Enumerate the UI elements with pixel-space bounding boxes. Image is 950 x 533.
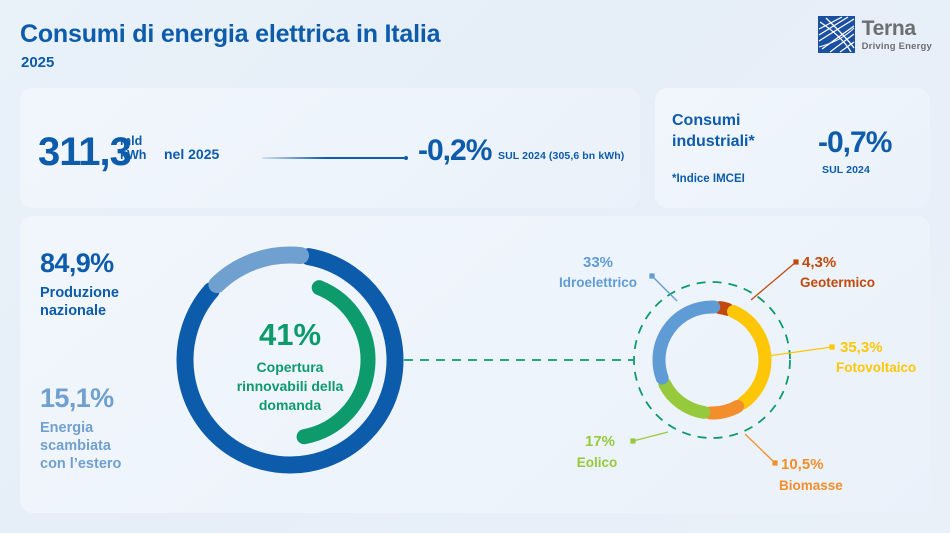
mix-arc-geotermico xyxy=(720,308,728,310)
leader-idroelettrico xyxy=(652,276,677,301)
mix-arc-idroelettrico xyxy=(659,307,714,378)
mix-arc-fotovoltaico xyxy=(734,312,765,403)
leader-fotovoltaico xyxy=(768,347,832,356)
mix-rinnovabili-donut xyxy=(630,259,834,465)
leader-eolico-marker xyxy=(630,438,635,443)
outer-arc-energia-scambiata xyxy=(217,255,301,285)
produzione-nazionale-donut: 41% Copertura rinnovabili della domanda xyxy=(185,255,395,465)
label-geotermico-pct: 4,3% xyxy=(802,254,836,271)
mix-arc-eolico xyxy=(665,384,704,412)
label-geotermico-name: Geotermico xyxy=(800,275,875,290)
label-biomasse-name: Biomasse xyxy=(779,478,843,493)
donut-center-line2: rinnovabili della xyxy=(237,378,344,394)
charts-layer: 41% Copertura rinnovabili della domanda … xyxy=(0,0,950,533)
infographic-canvas: Consumi di energia elettrica in Italia 2… xyxy=(0,0,950,533)
label-eolico-pct: 17% xyxy=(585,433,615,450)
label-eolico-name: Eolico xyxy=(577,455,618,470)
leader-eolico xyxy=(633,432,668,441)
donut-center-line3: domanda xyxy=(259,397,321,413)
mix-arc-biomasse xyxy=(710,406,737,413)
leader-geotermico-marker xyxy=(793,259,798,264)
leader-geotermico xyxy=(751,262,796,300)
label-fotovoltaico-pct: 35,3% xyxy=(840,339,883,356)
leader-biomasse-marker xyxy=(772,460,777,465)
donut-center-line1: Copertura xyxy=(257,359,324,375)
label-biomasse-pct: 10,5% xyxy=(781,456,824,473)
leader-fotovoltaico-marker xyxy=(829,344,834,349)
leader-biomasse xyxy=(745,434,775,463)
label-idroelettrico-name: Idroelettrico xyxy=(559,275,637,290)
label-idroelettrico-pct: 33% xyxy=(583,254,613,271)
label-fotovoltaico-name: Fotovoltaico xyxy=(836,360,916,375)
leader-idroelettrico-marker xyxy=(649,273,654,278)
donut-center-pct: 41% xyxy=(259,317,321,352)
mix-labels: 33% Idroelettrico 4,3% Geotermico 35,3% … xyxy=(559,254,916,493)
